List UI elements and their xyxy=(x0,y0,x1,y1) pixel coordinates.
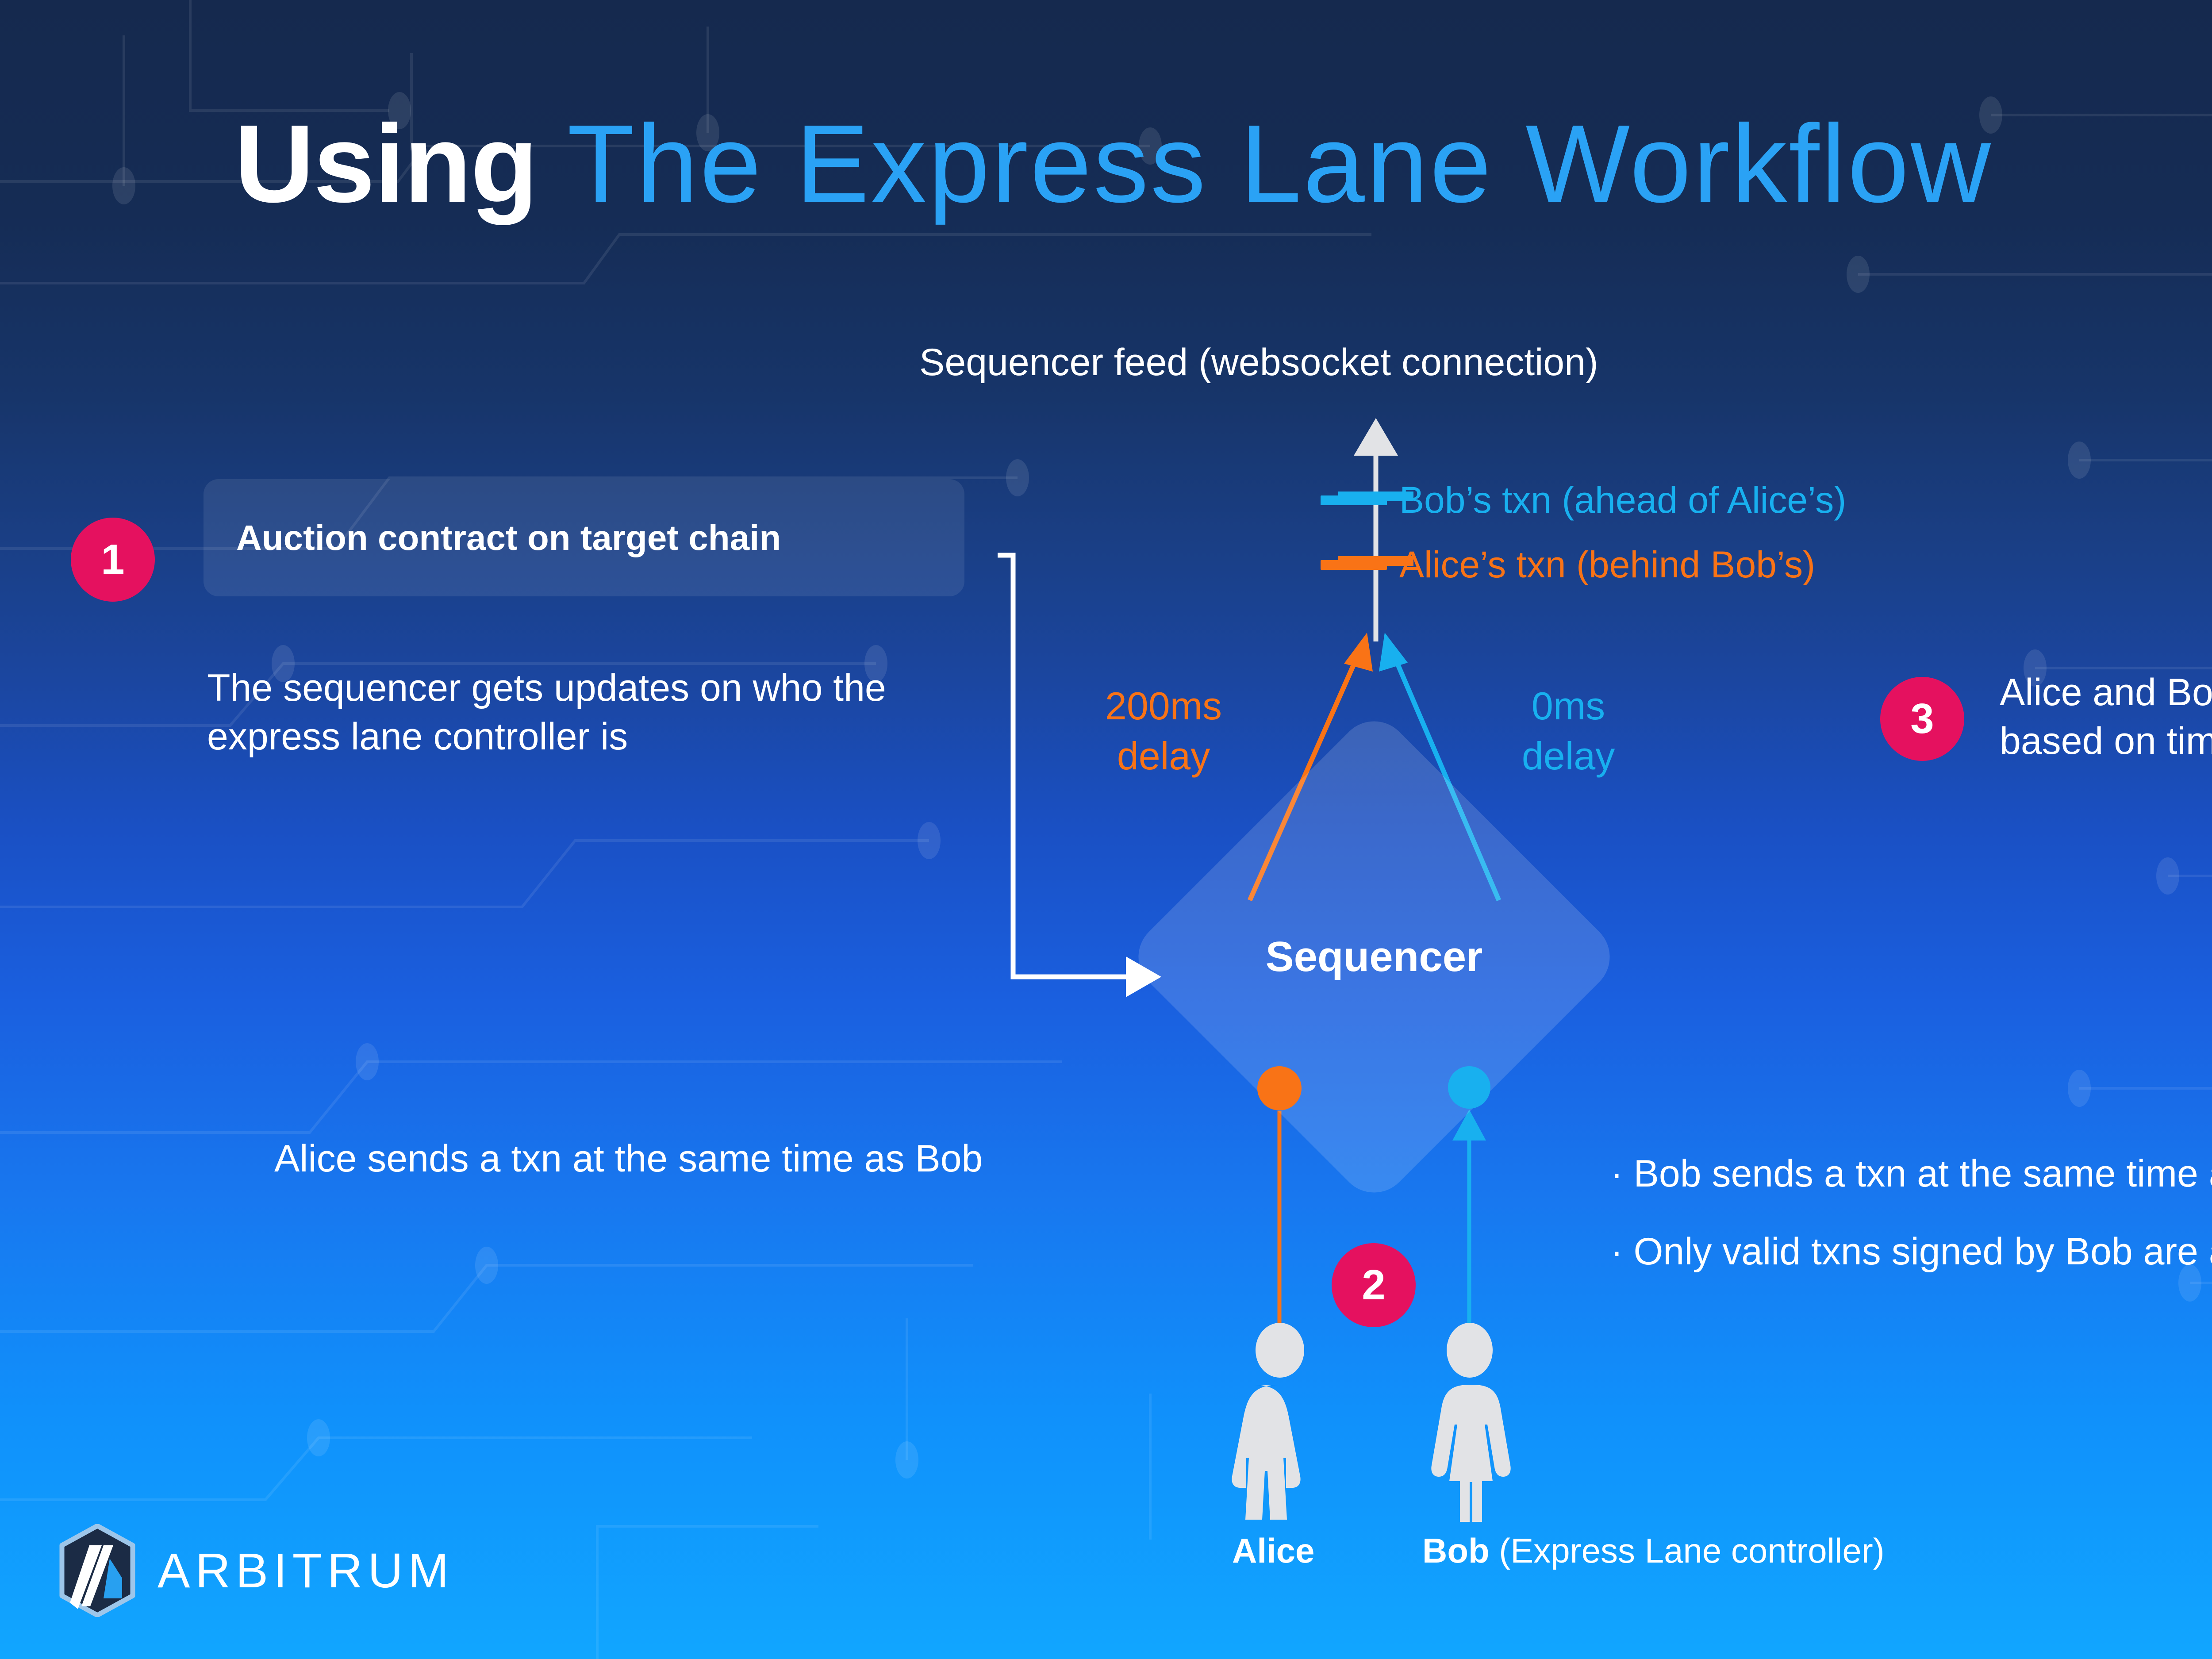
slide-canvas: Using The Express Lane Workflow Sequence… xyxy=(0,0,2212,1659)
bob-name-row: Bob (Express Lane controller) xyxy=(1422,1531,1885,1571)
alice-txn-dot xyxy=(1257,1066,1302,1110)
alice-figure xyxy=(1232,1323,1304,1520)
step-badge-1: 1 xyxy=(71,518,155,602)
alice-delay-word: delay xyxy=(1079,731,1248,781)
feed-arrow-head xyxy=(1354,418,1398,456)
diagram-connectors xyxy=(0,0,2212,1659)
step-badge-3: 3 xyxy=(1880,677,1964,761)
bob-delay-label: 0ms delay xyxy=(1495,681,1641,781)
legend-item-bob: Bob’s txn (ahead of Alice’s) xyxy=(1321,479,1846,522)
bob-bullet-list: · Bob sends a txn at the same time as Al… xyxy=(1610,1135,2212,1291)
legend-label-alice: Alice’s txn (behind Bob’s) xyxy=(1399,543,1815,586)
alice-send-caption: Alice sends a txn at the same time as Bo… xyxy=(274,1137,983,1181)
legend-item-alice: Alice’s txn (behind Bob’s) xyxy=(1321,543,1815,586)
people-figures xyxy=(1208,1323,1544,1522)
bob-delay-word: delay xyxy=(1495,731,1641,781)
arbitrum-logo: ARBITRUM xyxy=(58,1524,454,1617)
arbitrum-mark-icon xyxy=(58,1524,137,1617)
bob-name-label: Bob xyxy=(1422,1531,1490,1570)
alice-delay-value: 200ms xyxy=(1079,681,1248,731)
auction-description: The sequencer gets updates on who the ex… xyxy=(207,664,981,761)
bob-txn-dot xyxy=(1448,1066,1490,1109)
bob-delay-arrowhead xyxy=(1379,633,1408,672)
alice-delay-label: 200ms delay xyxy=(1079,681,1248,781)
auction-contract-label: Auction contract on target chain xyxy=(236,518,781,558)
bob-bullet-2: · Only valid txns signed by Bob are acce… xyxy=(1610,1213,2212,1290)
legend-label-bob: Bob’s txn (ahead of Alice’s) xyxy=(1399,479,1846,522)
step-badge-2: 2 xyxy=(1332,1243,1416,1327)
legend-swatch-alice xyxy=(1321,560,1387,570)
legend-swatch-bob xyxy=(1321,495,1387,505)
alice-name-label: Alice xyxy=(1232,1531,1314,1571)
auction-contract-box[interactable]: Auction contract on target chain xyxy=(204,479,964,596)
alice-delay-arrowhead xyxy=(1344,633,1373,672)
bob-role-label: (Express Lane controller) xyxy=(1499,1531,1884,1570)
arbitrum-wordmark: ARBITRUM xyxy=(157,1543,454,1599)
bob-delay-value: 0ms xyxy=(1495,681,1641,731)
bob-figure xyxy=(1431,1323,1510,1522)
step3-description: Alice and Bob's txns get ordered into bl… xyxy=(2000,668,2212,765)
bob-bullet-1: · Bob sends a txn at the same time as Al… xyxy=(1610,1135,2212,1213)
sequencer-label: Sequencer xyxy=(1197,913,1551,1001)
